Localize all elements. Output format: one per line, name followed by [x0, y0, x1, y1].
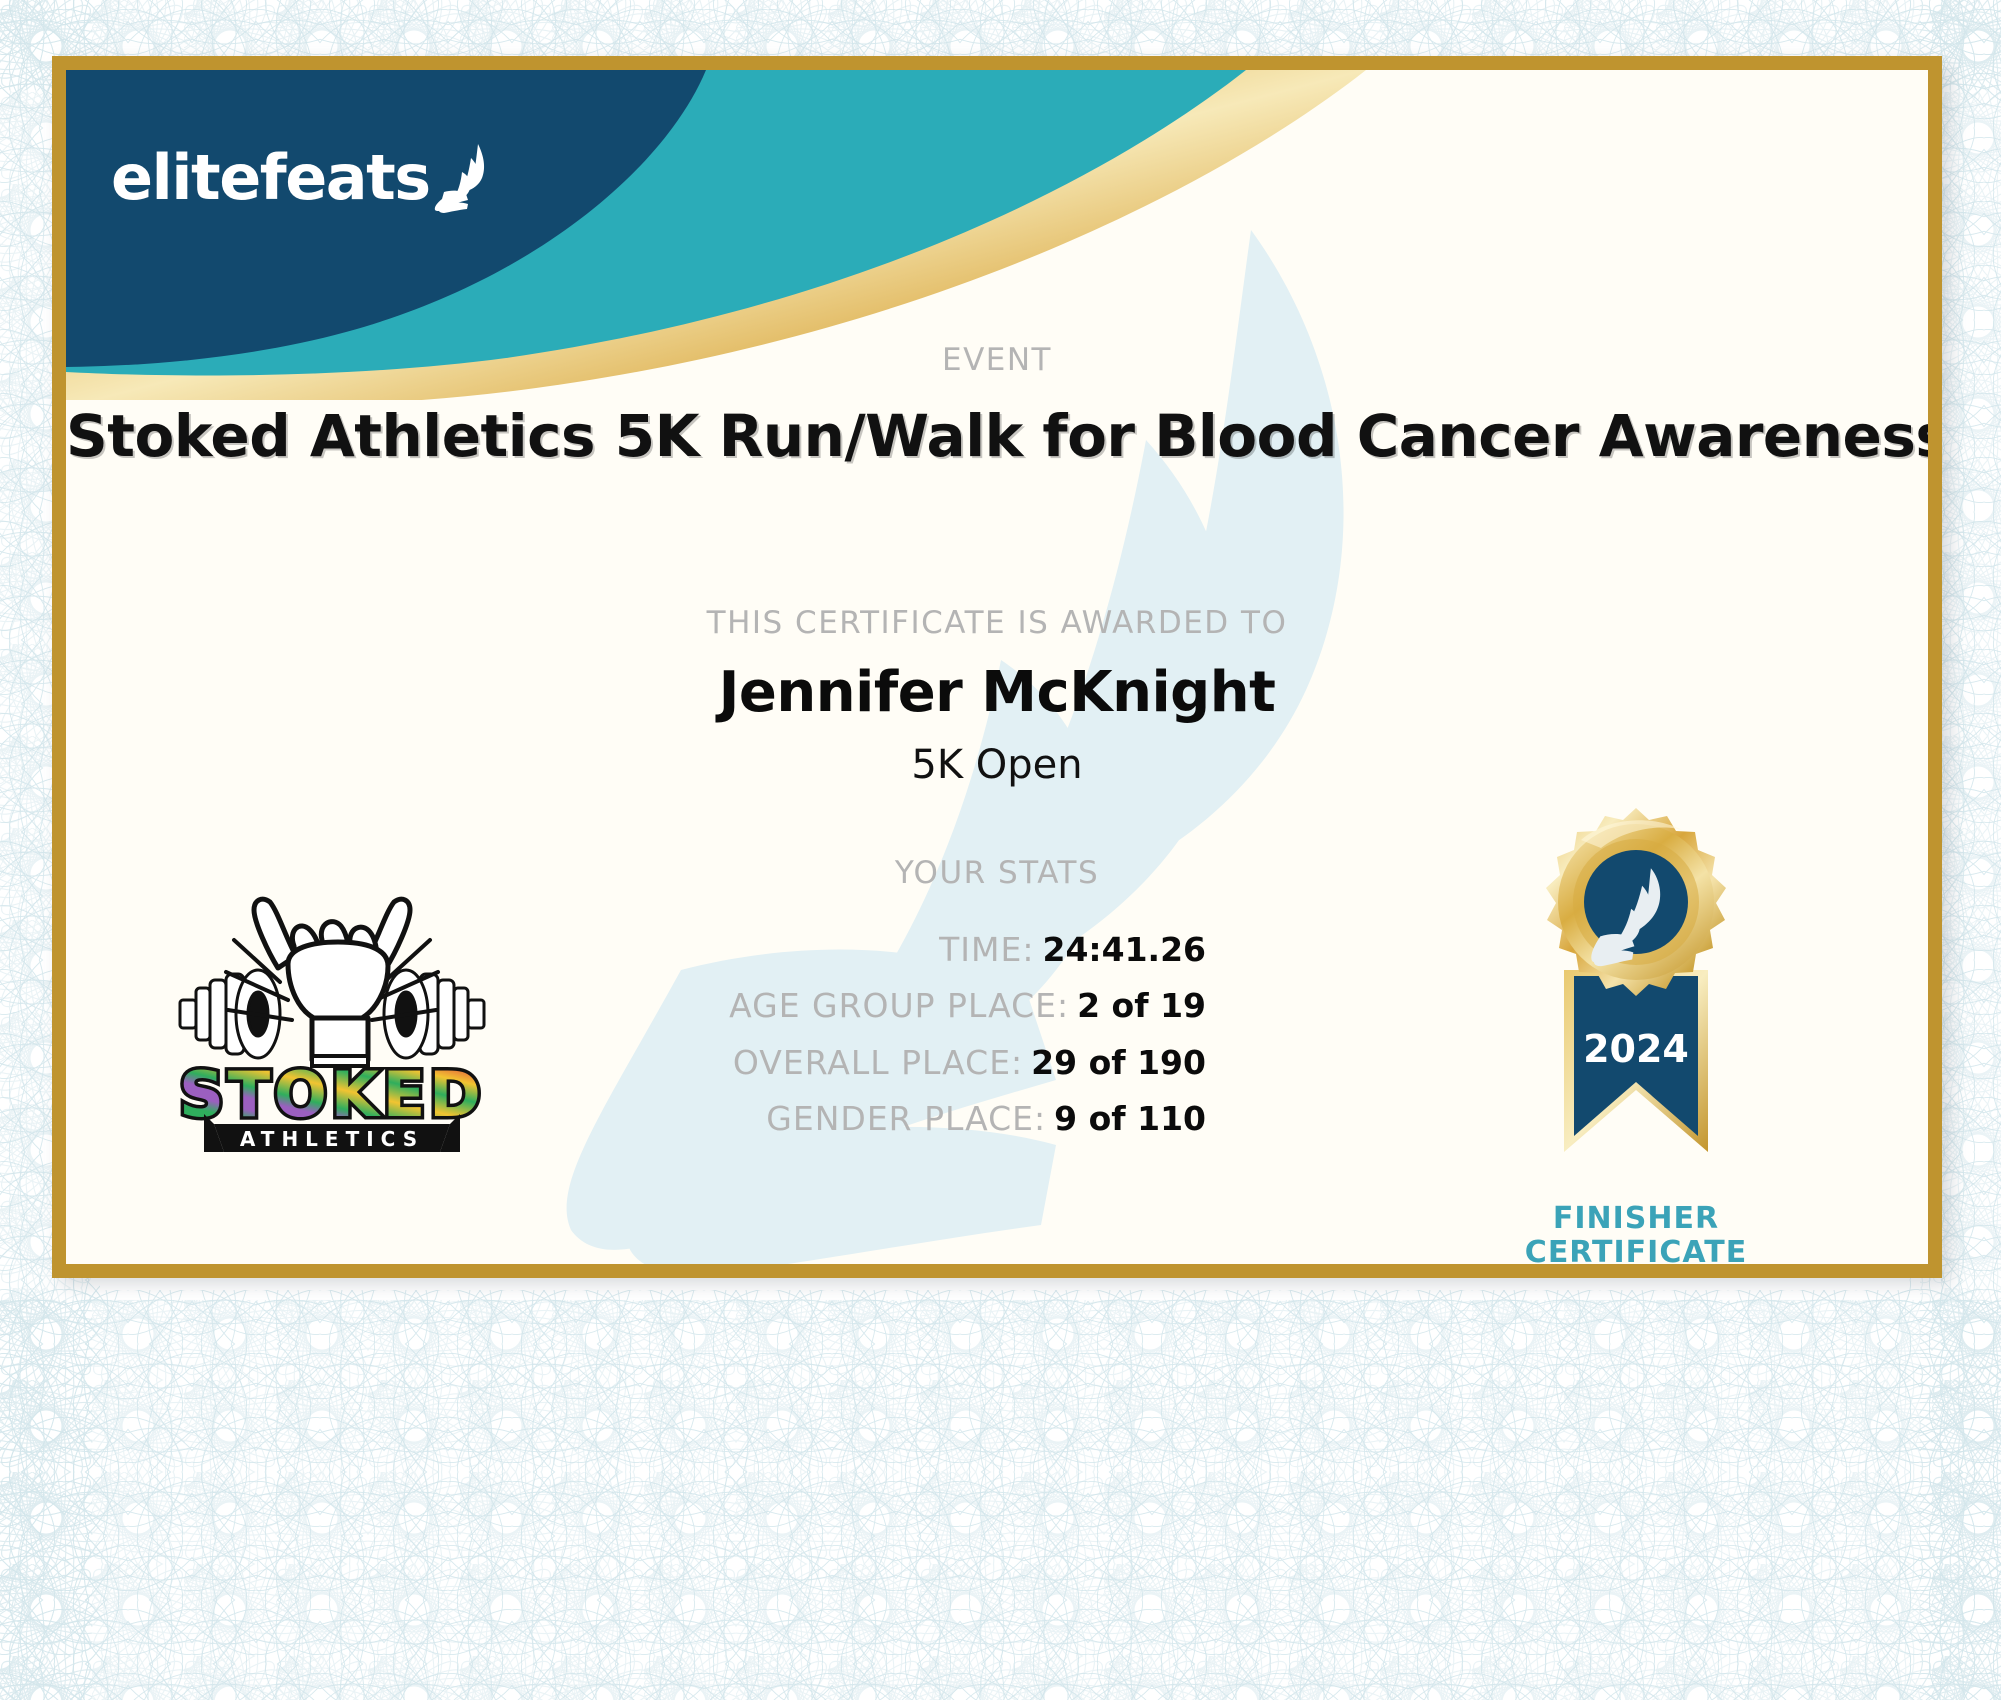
finisher-badge: 2024 FINISHER CERTIFICATE: [1466, 800, 1806, 1264]
stats-list: TIME:24:41.26 AGE GROUP PLACE:2 of 19 OV…: [396, 930, 1206, 1155]
athletics-subtext: ATHLETICS: [240, 1127, 424, 1151]
badge-medal: [1546, 808, 1726, 996]
stat-row-time: TIME:24:41.26: [396, 930, 1206, 970]
badge-year-text: 2024: [1583, 1027, 1689, 1071]
badge-caption-line1: FINISHER: [1466, 1202, 1806, 1236]
certificate-frame: elitefeats: [52, 56, 1942, 1278]
stat-label-overall-place: OVERALL PLACE:: [733, 1043, 1023, 1082]
division-name: 5K Open: [66, 742, 1928, 788]
stat-value-time: 24:41.26: [1042, 930, 1206, 969]
winged-foot-icon: [434, 142, 494, 214]
certificate-body: elitefeats: [66, 70, 1928, 1264]
event-title: Stoked Athletics 5K Run/Walk for Blood C…: [66, 402, 1928, 470]
elitefeats-logo: elitefeats: [111, 142, 494, 214]
stat-value-age-group-place: 2 of 19: [1077, 986, 1206, 1025]
certificate-page: elitefeats: [0, 0, 2001, 1700]
stat-row-age-group-place: AGE GROUP PLACE:2 of 19: [396, 986, 1206, 1026]
badge-caption-line2: CERTIFICATE: [1466, 1236, 1806, 1264]
awarded-to-label: THIS CERTIFICATE IS AWARDED TO: [66, 605, 1928, 641]
event-label: EVENT: [66, 342, 1928, 378]
stoked-wordmark: STOKED: [179, 1058, 485, 1131]
stoked-athletics-logo: STOKED ATHLETICS: [162, 860, 502, 1160]
stat-value-gender-place: 9 of 110: [1054, 1099, 1206, 1138]
stat-row-overall-place: OVERALL PLACE:29 of 190: [396, 1043, 1206, 1083]
badge-caption: FINISHER CERTIFICATE: [1466, 1202, 1806, 1264]
stat-value-overall-place: 29 of 190: [1031, 1043, 1206, 1082]
brand-wordmark: elitefeats: [111, 147, 430, 209]
recipient-name: Jennifer McKnight: [66, 660, 1928, 725]
stat-label-time: TIME:: [939, 930, 1034, 969]
stat-row-gender-place: GENDER PLACE:9 of 110: [396, 1099, 1206, 1139]
stat-label-age-group-place: AGE GROUP PLACE:: [729, 986, 1069, 1025]
stat-label-gender-place: GENDER PLACE:: [766, 1099, 1046, 1138]
